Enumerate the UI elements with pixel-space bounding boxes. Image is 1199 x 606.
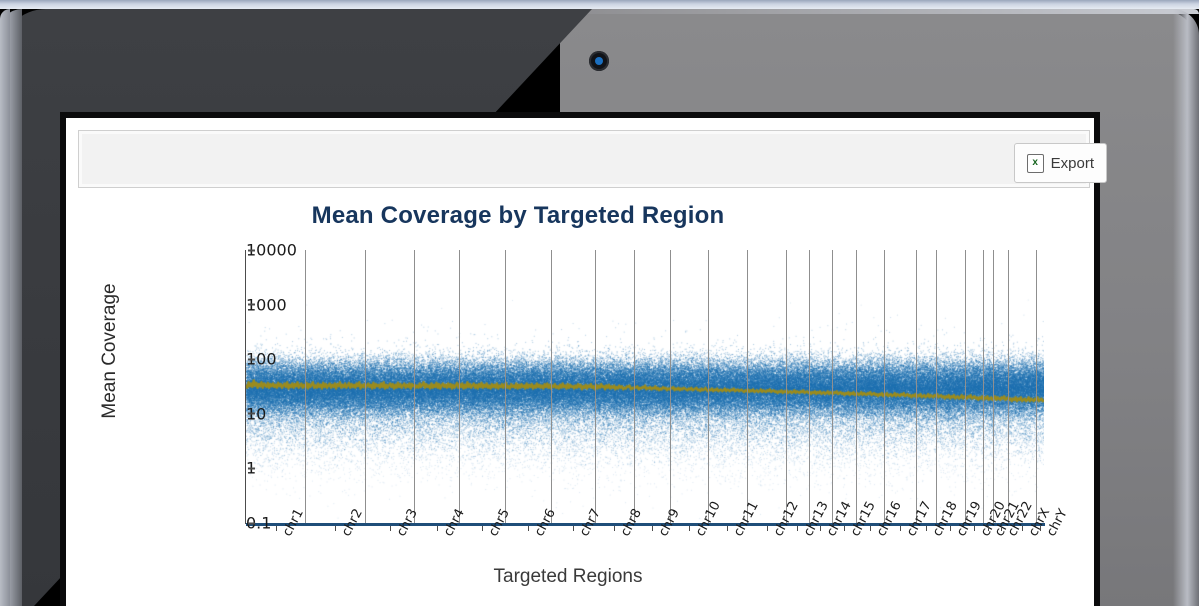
chromosome-gridline [365, 250, 366, 523]
y-tick-label: 10000 [246, 241, 255, 260]
chromosome-gridline [884, 250, 885, 523]
x-tick-mark [797, 526, 798, 531]
x-tick-mark [870, 526, 871, 531]
x-tick-mark [437, 526, 438, 531]
y-axis-label: Mean Coverage [99, 231, 121, 471]
chromosome-gridline [993, 250, 994, 523]
x-tick-mark [988, 526, 989, 531]
x-tick-mark [390, 526, 391, 531]
x-tick-mark [926, 526, 927, 531]
chromosome-gridline [786, 250, 787, 523]
x-tick-mark [614, 526, 615, 531]
chromosome-gridline [1036, 250, 1037, 523]
chart-title: Mean Coverage by Targeted Region [78, 202, 958, 230]
y-tick-label: 1000 [246, 295, 255, 314]
chromosome-gridline [747, 250, 748, 523]
app-toolbar: x Export [78, 130, 1090, 188]
x-tick-mark [276, 526, 277, 531]
x-tick-mark [335, 526, 336, 531]
x-tick-mark [950, 526, 951, 531]
secondary-tablet-right-highlight [1173, 9, 1199, 606]
x-tick-mark [573, 526, 574, 531]
chromosome-gridline [983, 250, 984, 523]
chromosome-gridline [305, 250, 306, 523]
secondary-tablet-top-sheen [560, 9, 1199, 14]
x-tick-mark [482, 526, 483, 531]
x-tick-mark [528, 526, 529, 531]
plot-area [246, 250, 1044, 523]
x-tick-mark [1022, 526, 1023, 531]
primary-tablet-left-edge-inner [0, 9, 10, 606]
chromosome-gridline [634, 250, 635, 523]
export-button-label: Export [1051, 155, 1094, 172]
excel-file-icon: x [1027, 154, 1044, 173]
chromosome-gridline [595, 250, 596, 523]
y-tick-label: 10 [246, 404, 255, 423]
chromosome-gridline [809, 250, 810, 523]
x-tick-mark [727, 526, 728, 531]
x-tick-mark [900, 526, 901, 531]
x-tick-mark [820, 526, 821, 531]
camera-dot-icon [589, 51, 609, 71]
x-tick-mark [767, 526, 768, 531]
chromosome-gridline [551, 250, 552, 523]
chromosome-gridline [936, 250, 937, 523]
chromosome-gridline [1008, 250, 1009, 523]
chart-panel: Mean Coverage by Targeted Region Mean Co… [78, 190, 1088, 600]
chromosome-gridline [856, 250, 857, 523]
y-tick-label: 1 [246, 459, 255, 478]
x-tick-mark [974, 526, 975, 531]
x-tick-mark [1001, 526, 1002, 531]
y-tick-label: 0.1 [246, 514, 255, 533]
x-tick-mark [652, 526, 653, 531]
chromosome-gridline [965, 250, 966, 523]
chromosome-gridline [670, 250, 671, 523]
chromosome-gridline [459, 250, 460, 523]
chromosome-gridline [414, 250, 415, 523]
x-tick-mark [844, 526, 845, 531]
chromosome-gridline [708, 250, 709, 523]
x-tick-mark [689, 526, 690, 531]
chromosome-gridline [505, 250, 506, 523]
screenshot-stage: x Export Mean Coverage by Targeted Regio… [0, 0, 1199, 606]
y-tick-label: 100 [246, 350, 255, 369]
chromosome-gridline [916, 250, 917, 523]
top-edge-strip [0, 0, 1199, 9]
chromosome-gridline [832, 250, 833, 523]
export-button[interactable]: x Export [1014, 143, 1107, 183]
x-axis-label: Targeted Regions [168, 566, 968, 588]
x-tick-mark [1040, 526, 1041, 531]
